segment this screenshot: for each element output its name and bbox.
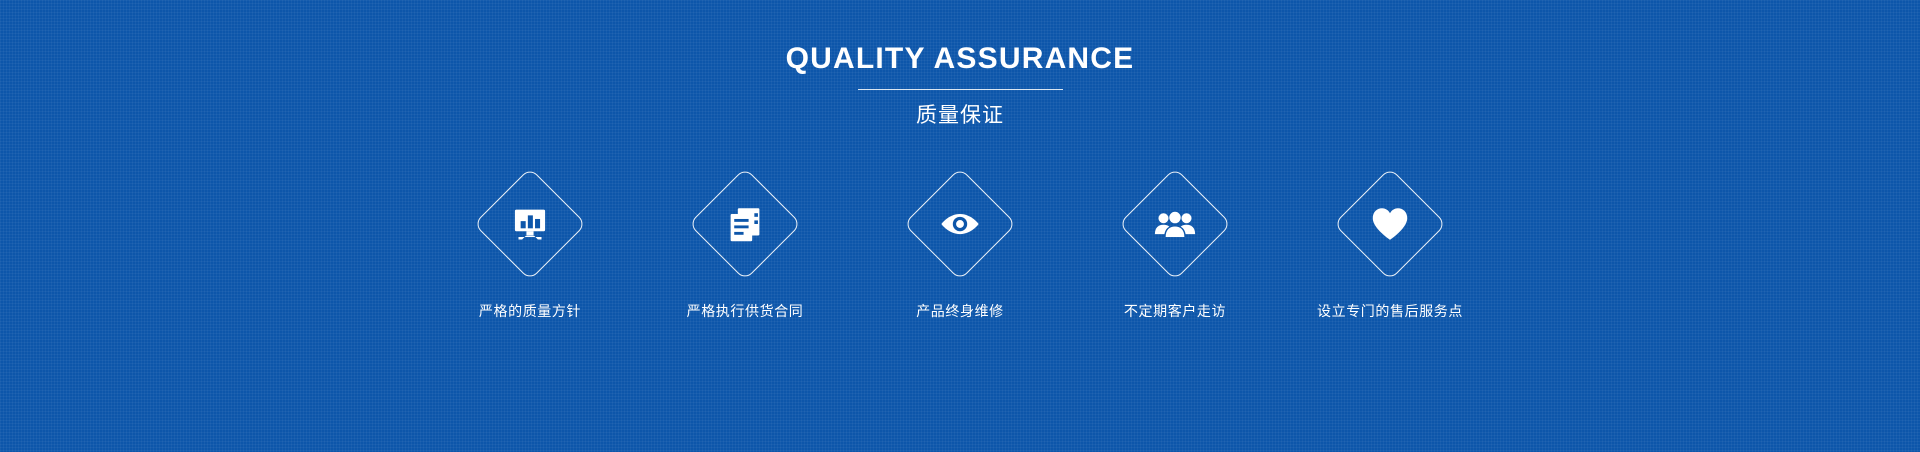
feature-icon-diamond [1334,168,1446,280]
page-title: QUALITY ASSURANCE [0,40,1920,78]
feature-list: 严格的质量方针 严格执行供货合同 [0,168,1920,322]
feature-icon-diamond [689,168,801,280]
feature-label: 严格的质量方针 [479,302,581,322]
feature-icon-diamond [1119,168,1231,280]
feature-icon-diamond [904,168,1016,280]
users-group-icon [1152,201,1198,247]
eye-icon [937,201,983,247]
feature-item[interactable]: 设立专门的售后服务点 [1283,168,1498,322]
title-divider-wrapper [0,78,1920,100]
feature-label: 不定期客户走访 [1124,302,1226,322]
feature-label: 产品终身维修 [916,302,1004,322]
title-divider [858,89,1063,90]
feature-item[interactable]: 严格执行供货合同 [638,168,853,322]
documents-stack-icon [722,201,768,247]
feature-item[interactable]: 不定期客户走访 [1068,168,1283,322]
feature-icon-diamond [474,168,586,280]
feature-item[interactable]: 严格的质量方针 [423,168,638,322]
quality-assurance-banner: QUALITY ASSURANCE 质量保证 [0,0,1920,452]
banner-header: QUALITY ASSURANCE 质量保证 [0,40,1920,130]
feature-label: 设立专门的售后服务点 [1317,302,1463,322]
heart-icon [1367,201,1413,247]
presentation-chart-icon [507,201,553,247]
page-subtitle: 质量保证 [0,100,1920,130]
feature-item[interactable]: 产品终身维修 [853,168,1068,322]
feature-label: 严格执行供货合同 [687,302,804,322]
